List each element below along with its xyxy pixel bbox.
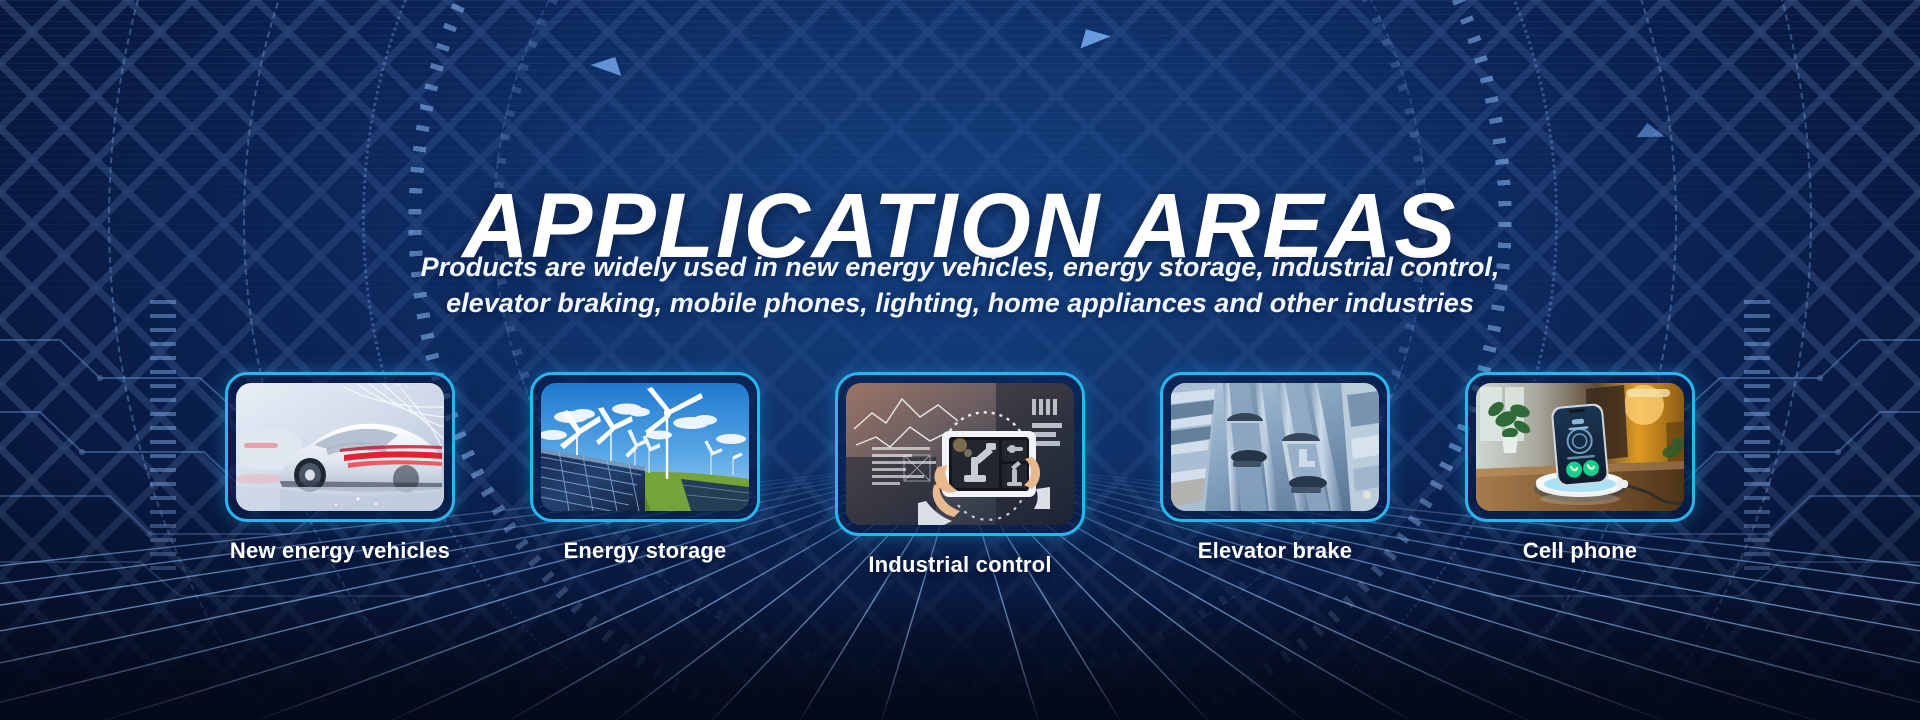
subtitle-line-1: Products are widely used in new energy v… (380, 250, 1540, 286)
card-label: Elevator brake (1198, 538, 1352, 564)
card-label: New energy vehicles (230, 538, 450, 564)
phone-wireless-charger-thumbnail (1476, 383, 1684, 511)
card-frame (835, 372, 1085, 536)
application-card-cell-phone[interactable]: Cell phone (1465, 372, 1695, 564)
application-card-new-energy-vehicles[interactable]: New energy vehicles (225, 372, 455, 564)
card-frame (225, 372, 455, 522)
application-areas-banner: APPLICATION AREAS Products are widely us… (0, 0, 1920, 720)
sports-car-thumbnail (236, 383, 444, 511)
subtitle-line-2: elevator braking, mobile phones, lightin… (380, 286, 1540, 322)
card-label: Energy storage (564, 538, 727, 564)
application-card-energy-storage[interactable]: Energy storage (530, 372, 760, 564)
card-frame (530, 372, 760, 522)
page-subtitle: Products are widely used in new energy v… (380, 250, 1540, 322)
application-card-elevator-brake[interactable]: Elevator brake (1160, 372, 1390, 564)
application-card-list: New energy vehicles (225, 372, 1695, 582)
tablet-robot-arm-thumbnail (846, 383, 1074, 525)
card-label: Cell phone (1523, 538, 1637, 564)
glass-elevator-thumbnail (1171, 383, 1379, 511)
solar-wind-farm-thumbnail (541, 383, 749, 511)
application-card-industrial-control[interactable]: Industrial control (835, 372, 1085, 578)
card-label: Industrial control (868, 552, 1051, 578)
card-frame (1465, 372, 1695, 522)
card-frame (1160, 372, 1390, 522)
